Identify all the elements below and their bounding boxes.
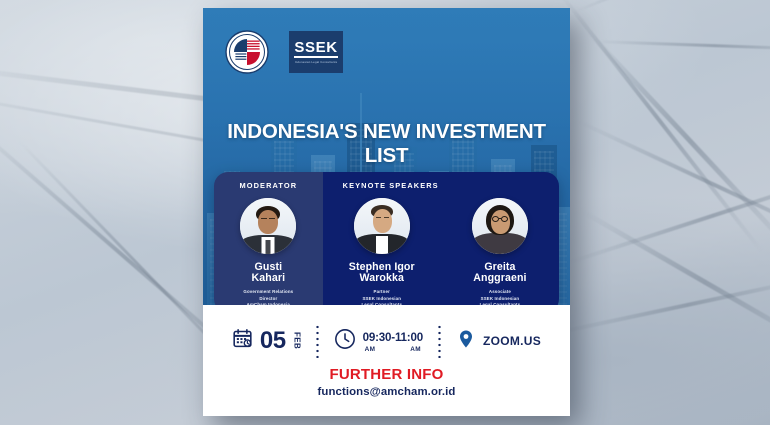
avatar bbox=[354, 198, 410, 254]
event-time-meridiem: AM AM bbox=[363, 347, 423, 353]
map-pin-icon bbox=[456, 329, 476, 354]
event-location: ZOOM.US bbox=[456, 329, 541, 354]
glasses-icon bbox=[492, 216, 499, 222]
clock-icon bbox=[334, 328, 356, 355]
event-location-text: ZOOM.US bbox=[483, 334, 541, 348]
speakers-card: MODERATOR Gusti Kahari bbox=[214, 172, 559, 305]
speaker-role-line2: SSEK Indonesian bbox=[481, 296, 520, 301]
avatar bbox=[240, 198, 296, 254]
speaker-person: Stephen Igor Warokka Partner SSEK Indone… bbox=[323, 172, 441, 305]
ssek-tagline: Indonesian Legal Consultants bbox=[295, 60, 337, 64]
speaker-name-line1: Stephen Igor bbox=[349, 261, 415, 273]
speaker-name-line1: Greita bbox=[484, 261, 515, 273]
speaker-name: Stephen Igor Warokka bbox=[323, 262, 441, 284]
poster-footer: FURTHER INFO functions@amcham.or.id bbox=[203, 366, 570, 398]
divider bbox=[438, 324, 441, 358]
ssek-wordmark: SSEK bbox=[294, 40, 337, 59]
avatar bbox=[472, 198, 528, 254]
speaker-role-line3: Legal Consultants bbox=[480, 302, 521, 305]
event-info-bar: 05 FEB 09:30-11:00 AM AM bbox=[203, 313, 570, 369]
moderator-heading: MODERATOR bbox=[214, 181, 323, 190]
speaker-role-line1: Associate bbox=[489, 289, 511, 294]
event-date: 05 FEB bbox=[232, 328, 301, 354]
moderator-role-line1: Government Relations bbox=[243, 289, 293, 294]
speaker-name: Greita Anggraeni bbox=[441, 262, 559, 284]
event-time: 09:30-11:00 AM AM bbox=[334, 328, 423, 355]
further-info-heading: FURTHER INFO bbox=[203, 366, 570, 383]
glasses-icon bbox=[501, 216, 508, 222]
divider bbox=[316, 324, 319, 358]
event-time-range: 09:30-11:00 bbox=[363, 331, 423, 344]
calendar-icon bbox=[232, 328, 253, 354]
speaker-person: Greita Anggraeni Associate SSEK Indonesi… bbox=[441, 172, 559, 305]
speaker-role: Partner SSEK Indonesian Legal Consultant… bbox=[323, 289, 441, 305]
event-day: 05 bbox=[260, 329, 286, 353]
meridiem-end: AM bbox=[410, 347, 421, 353]
moderator-role: Government Relations Director AmCham Ind… bbox=[214, 289, 323, 305]
moderator-panel: MODERATOR Gusti Kahari bbox=[214, 172, 323, 305]
speaker-role: Associate SSEK Indonesian Legal Consulta… bbox=[441, 289, 559, 305]
keynote-heading: KEYNOTE SPEAKERS bbox=[323, 181, 559, 190]
speaker-name-line2: Warokka bbox=[360, 272, 404, 284]
event-poster: SSEK Indonesian Legal Consultants INDONE… bbox=[203, 8, 570, 416]
poster-title: INDONESIA'S NEW INVESTMENT LIST bbox=[215, 120, 558, 168]
speaker-name-line2: Anggraeni bbox=[473, 272, 526, 284]
event-month: FEB bbox=[293, 332, 301, 349]
keynote-panel: KEYNOTE SPEAKERS Stephen Igor Warokka bbox=[323, 172, 559, 305]
moderator-role-line2: Director bbox=[259, 296, 277, 301]
speaker-role-line3: Legal Consultants bbox=[361, 302, 402, 305]
meridiem-start: AM bbox=[365, 347, 376, 353]
moderator-person: Gusti Kahari Government Relations Direct… bbox=[214, 172, 323, 305]
moderator-role-line3: AmCham Indonesia bbox=[247, 302, 290, 305]
contact-email[interactable]: functions@amcham.or.id bbox=[203, 386, 570, 398]
speaker-role-line1: Partner bbox=[374, 289, 390, 294]
moderator-name-line2: Kahari bbox=[252, 272, 286, 284]
speaker-role-line2: SSEK Indonesian bbox=[362, 296, 401, 301]
amcham-seal-icon bbox=[225, 30, 269, 74]
event-time-text: 09:30-11:00 AM AM bbox=[363, 329, 423, 353]
logo-group: SSEK Indonesian Legal Consultants bbox=[225, 30, 343, 74]
moderator-name-line1: Gusti bbox=[255, 261, 283, 273]
poster-hero: SSEK Indonesian Legal Consultants INDONE… bbox=[203, 8, 570, 305]
moderator-name: Gusti Kahari bbox=[214, 262, 323, 284]
ssek-logo: SSEK Indonesian Legal Consultants bbox=[289, 31, 343, 73]
